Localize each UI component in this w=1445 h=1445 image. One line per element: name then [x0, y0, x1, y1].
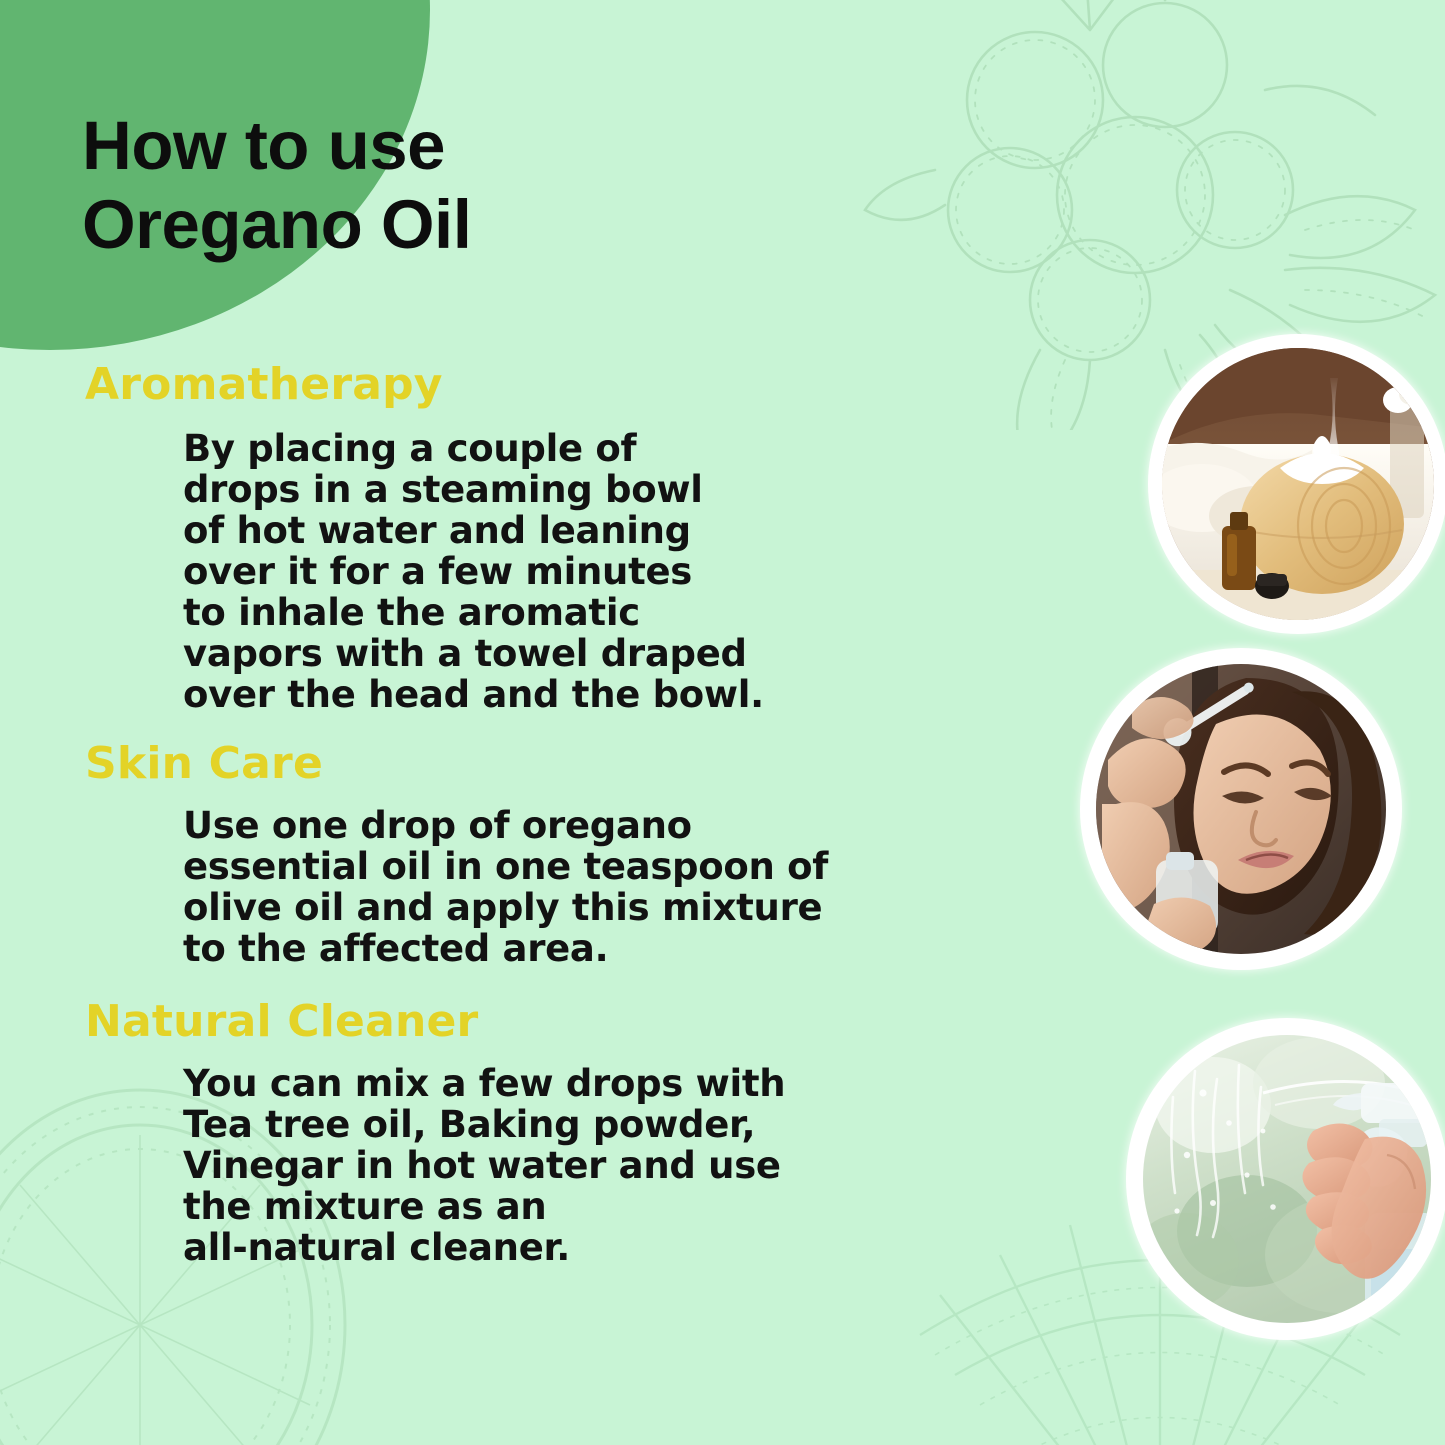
photo-diffuser-image: [1162, 348, 1434, 620]
photo-diffuser: [1148, 334, 1445, 634]
section-heading-aromatherapy: Aromatherapy: [0, 358, 980, 412]
section-aromatherapy: Aromatherapy By placing a couple of drop…: [0, 358, 980, 715]
photo-natural-cleaner-image: [1143, 1035, 1431, 1323]
section-natural-cleaner: Natural Cleaner You can mix a few drops …: [0, 995, 980, 1268]
section-body-natural-cleaner: You can mix a few drops with Tea tree oi…: [0, 1063, 980, 1268]
section-heading-skin-care: Skin Care: [0, 737, 980, 791]
page-title: How to use Oregano Oil: [82, 106, 471, 264]
section-skin-care: Skin Care Use one drop of oregano essent…: [0, 737, 980, 969]
photo-skin-care-image: [1096, 664, 1386, 954]
section-heading-natural-cleaner: Natural Cleaner: [0, 995, 980, 1049]
sections-list: Aromatherapy By placing a couple of drop…: [0, 358, 980, 1274]
photo-skin-care: [1080, 648, 1402, 970]
photo-natural-cleaner: [1126, 1018, 1445, 1340]
infographic-poster: How to use Oregano Oil Aromatherapy By p…: [0, 0, 1445, 1445]
section-body-aromatherapy: By placing a couple of drops in a steami…: [0, 428, 980, 715]
section-body-skin-care: Use one drop of oregano essential oil in…: [0, 805, 980, 969]
